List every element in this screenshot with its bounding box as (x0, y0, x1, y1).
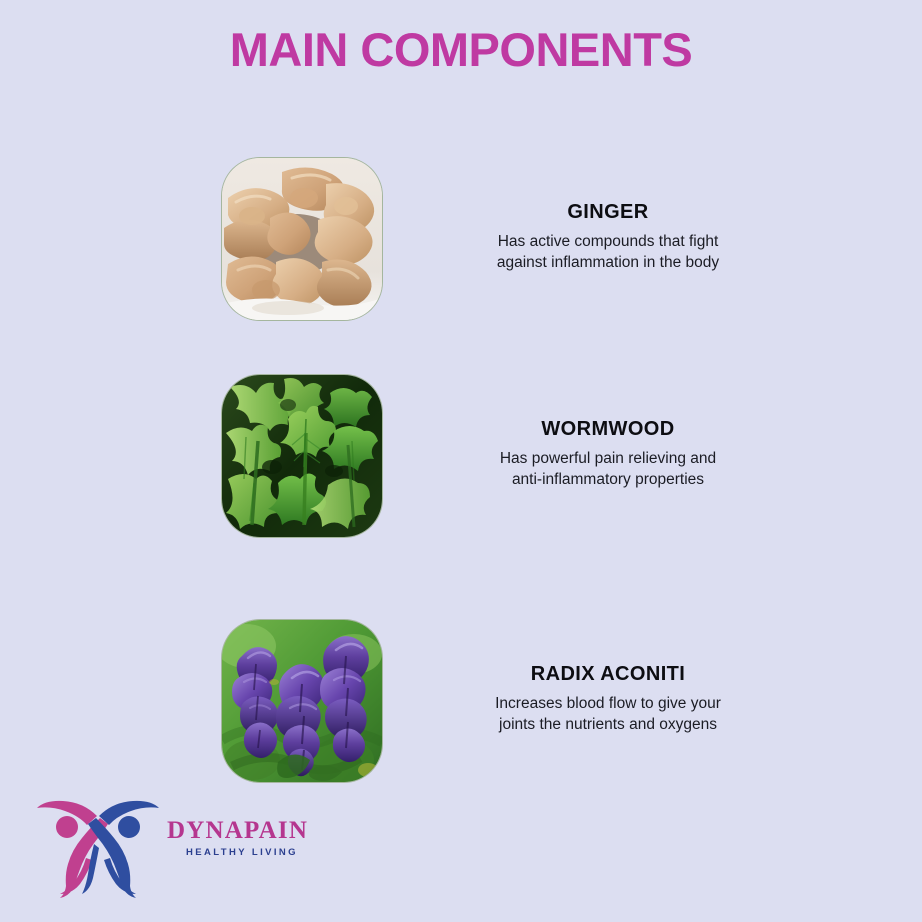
wormwood-leaves-photo (222, 375, 382, 537)
component-row-wormwood: WORMWOOD Has powerful pain relieving and… (0, 375, 922, 537)
component-name: WORMWOOD (458, 417, 758, 441)
description-line-1: Has active compounds that fight (498, 233, 719, 250)
dynapain-figures-icon (34, 790, 162, 898)
component-row-ginger: GINGER Has active compounds that fight a… (0, 158, 922, 320)
component-row-radix-aconiti: RADIX ACONITI Increases blood flow to gi… (0, 620, 922, 782)
description-line-2: anti-inflammatory properties (512, 471, 704, 488)
component-text-ginger: GINGER Has active compounds that fight a… (458, 200, 758, 274)
description-line-1: Increases blood flow to give your (495, 695, 721, 712)
description-line-1: Has powerful pain relieving and (500, 450, 716, 467)
component-text-radix-aconiti: RADIX ACONITI Increases blood flow to gi… (458, 662, 758, 736)
infographic-page: MAIN COMPONENTS (0, 0, 922, 922)
component-name: GINGER (458, 200, 758, 224)
brand-logo: DYNAPAIN HEALTHY LIVING (34, 790, 314, 898)
component-description: Increases blood flow to give your joints… (458, 694, 758, 736)
ginger-root-photo (222, 158, 382, 320)
page-title: MAIN COMPONENTS (0, 22, 922, 77)
component-text-wormwood: WORMWOOD Has powerful pain relieving and… (458, 417, 758, 491)
component-name: RADIX ACONITI (458, 662, 758, 686)
component-description: Has powerful pain relieving and anti-inf… (458, 449, 758, 491)
description-line-2: joints the nutrients and oxygens (499, 716, 717, 733)
logo-tagline: HEALTHY LIVING (167, 848, 317, 858)
aconite-flower-photo (222, 620, 382, 782)
description-line-2: against inflammation in the body (497, 254, 719, 271)
component-description: Has active compounds that fight against … (458, 232, 758, 274)
logo-text-block: DYNAPAIN HEALTHY LIVING (167, 818, 317, 858)
logo-wordmark: DYNAPAIN (167, 818, 317, 843)
